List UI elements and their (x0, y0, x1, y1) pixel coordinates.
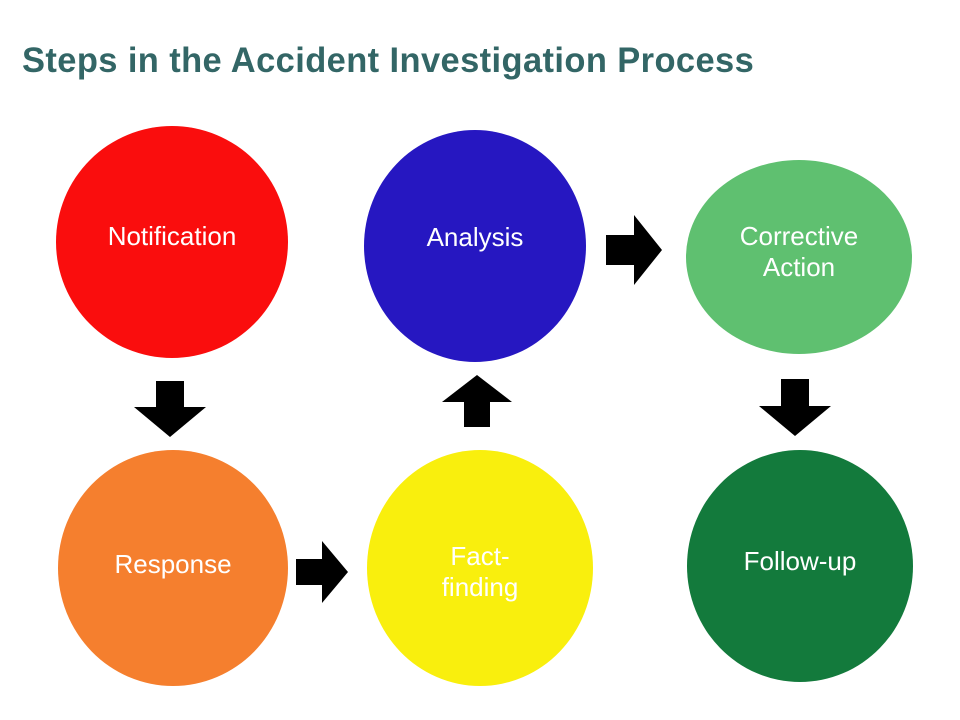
process-node-label: Corrective Action (730, 221, 868, 283)
arrow-right-icon-analysis-to-corrective-action (606, 215, 662, 285)
slide-canvas: Steps in the Accident Investigation Proc… (0, 0, 960, 720)
process-node-label: Analysis (417, 222, 534, 253)
process-node-response[interactable]: Response (58, 450, 288, 686)
arrow-up-icon-fact-finding-to-analysis (442, 375, 512, 427)
process-node-fact-finding[interactable]: Fact- finding (367, 450, 593, 686)
process-node-label: Fact- finding (432, 541, 529, 603)
arrow-down-icon-corrective-action-to-follow-up (759, 379, 831, 436)
process-node-follow-up[interactable]: Follow-up (687, 450, 913, 682)
process-node-analysis[interactable]: Analysis (364, 130, 586, 362)
process-node-corrective-action[interactable]: Corrective Action (686, 160, 912, 354)
arrow-right-icon-response-to-fact-finding (296, 541, 348, 603)
process-node-label: Response (104, 549, 241, 580)
process-node-notification[interactable]: Notification (56, 126, 288, 358)
process-node-label: Follow-up (734, 546, 867, 577)
page-title: Steps in the Accident Investigation Proc… (22, 40, 754, 82)
process-node-label: Notification (98, 221, 247, 252)
arrow-down-icon-notification-to-response (134, 381, 206, 437)
